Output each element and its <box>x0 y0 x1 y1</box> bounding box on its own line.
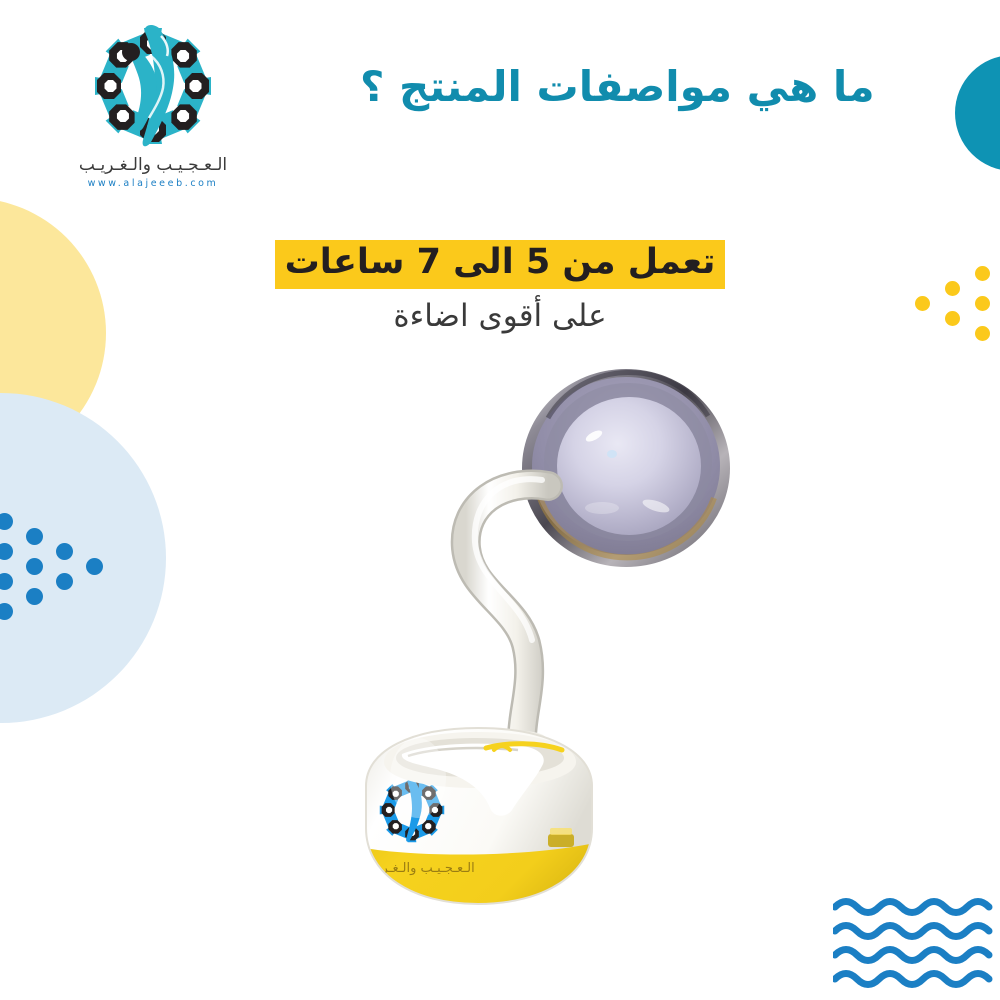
base-sticker-text: الـعـجـيـب والـغـريـب <box>361 861 474 876</box>
decorative-dot <box>86 558 103 575</box>
spec-block: تعمل من 5 الى 7 ساعات على أقوى اضاءة <box>0 240 1000 334</box>
decorative-dot <box>26 558 43 575</box>
spec-primary-wrap: تعمل من 5 الى 7 ساعات <box>0 240 1000 289</box>
lamp-product-photo: الـعـجـيـب والـغـريـب <box>326 358 756 928</box>
decorative-dot <box>0 603 13 620</box>
decorative-dot <box>0 513 13 530</box>
alajeeb-snowflake-logo-icon <box>79 24 227 154</box>
decorative-dot <box>0 573 13 590</box>
decorative-dot <box>0 543 13 560</box>
promo-card: الـعـجـيـب والـغـريـب www.alajeeeb.com م… <box>0 0 1000 1000</box>
blue-wave-lines <box>833 895 1000 990</box>
lamp-head <box>522 369 730 567</box>
blue-dot-triangle <box>0 498 126 688</box>
light-blue-circle-left <box>0 393 166 723</box>
brand-website-url: www.alajeeeb.com <box>58 178 248 189</box>
decorative-dot <box>26 588 43 605</box>
decorative-dot <box>56 543 73 560</box>
brand-logo-block: الـعـجـيـب والـغـريـب www.alajeeeb.com <box>58 24 248 189</box>
spec-secondary: على أقوى اضاءة <box>0 298 1000 334</box>
brand-wordmark: الـعـجـيـب والـغـريـب <box>58 156 248 175</box>
decorative-dot <box>26 528 43 545</box>
decorative-dot <box>56 573 73 590</box>
teal-circle-top-right <box>955 55 1000 171</box>
spec-primary-highlighted: تعمل من 5 الى 7 ساعات <box>275 240 726 289</box>
page-title: ما هي مواصفات المنتج ؟ <box>360 62 960 112</box>
lamp-base: الـعـجـيـب والـغـريـب <box>346 728 616 918</box>
lamp-gooseneck <box>466 479 548 751</box>
